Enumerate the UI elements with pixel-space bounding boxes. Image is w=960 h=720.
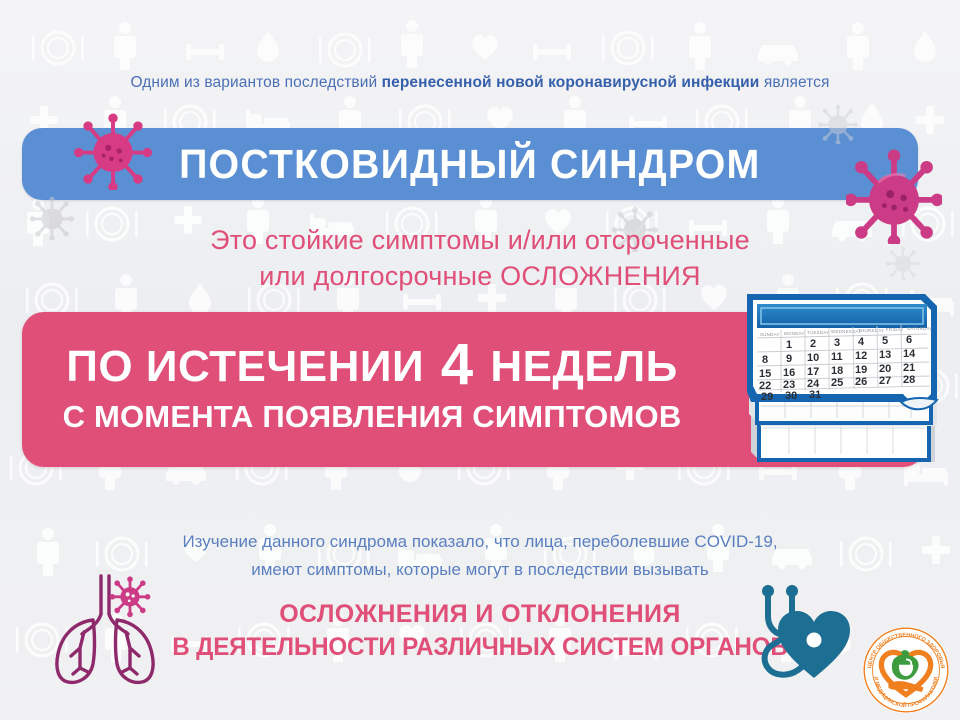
lower-paragraph-line-1: Изучение данного синдрома показало, что … bbox=[182, 532, 777, 551]
svg-text:20: 20 bbox=[879, 363, 891, 375]
heart-stethoscope-icon bbox=[752, 582, 856, 686]
svg-text:5: 5 bbox=[882, 335, 888, 347]
svg-text:25: 25 bbox=[831, 377, 843, 389]
pink-banner-weeks-number: 4 bbox=[437, 332, 478, 397]
calendar-illustration: 26 27 28 29 30 bbox=[735, 282, 960, 497]
svg-text:8: 8 bbox=[762, 354, 768, 366]
svg-text:12: 12 bbox=[855, 350, 867, 362]
svg-text:10: 10 bbox=[807, 352, 819, 364]
calendar-day: 1 bbox=[786, 339, 792, 351]
svg-text:11: 11 bbox=[831, 351, 843, 363]
svg-text:14: 14 bbox=[903, 348, 916, 360]
pink-banner-line-2: С МОМЕНТА ПОЯВЛЕНИЯ СИМПТОМОВ bbox=[22, 399, 722, 435]
svg-text:18: 18 bbox=[831, 365, 843, 377]
virus-icon-gray-c bbox=[818, 104, 858, 144]
pink-banner-line-1-before: ПО ИСТЕЧЕНИИ bbox=[66, 342, 437, 391]
postcovid-syndrome-poster: Одним из вариантов последствий перенесен… bbox=[0, 0, 960, 720]
intro-prefix: Одним из вариантов последствий bbox=[130, 74, 381, 91]
svg-text:TUESDAY: TUESDAY bbox=[807, 330, 830, 335]
organization-logo: ЦЕНТР ОБЩЕСТВЕННОГО ЗДОРОВЬЯ И МЕДИЦИНСК… bbox=[862, 626, 950, 714]
calendar-weekday: SUNDAY bbox=[760, 332, 780, 337]
svg-text:6: 6 bbox=[906, 334, 912, 346]
pink-banner-line-1: ПО ИСТЕЧЕНИИ 4 НЕДЕЛЬ bbox=[22, 340, 722, 392]
svg-text:21: 21 bbox=[903, 362, 915, 374]
svg-text:3: 3 bbox=[834, 337, 840, 349]
svg-text:29: 29 bbox=[761, 391, 773, 403]
svg-text:13: 13 bbox=[879, 349, 891, 361]
intro-bold: перенесенной новой коронавирусной инфекц… bbox=[382, 74, 760, 91]
svg-text:2: 2 bbox=[810, 338, 816, 350]
svg-text:4: 4 bbox=[858, 336, 865, 348]
pink-banner-line-1-after: НЕДЕЛЬ bbox=[478, 342, 678, 391]
svg-text:MONDAY: MONDAY bbox=[784, 331, 805, 336]
svg-text:9: 9 bbox=[786, 353, 792, 365]
svg-text:31: 31 bbox=[809, 389, 821, 401]
lungs-virus-icon bbox=[46, 568, 171, 688]
virus-icon-left bbox=[74, 112, 152, 190]
svg-text:28: 28 bbox=[903, 374, 915, 386]
svg-text:30: 30 bbox=[785, 390, 797, 402]
pink-subtitle-line-1: Это стойкие симптомы и/или отсроченные bbox=[210, 225, 750, 255]
svg-text:SATURDAY: SATURDAY bbox=[907, 326, 933, 331]
svg-text:27: 27 bbox=[879, 375, 891, 387]
blue-banner: ПОСТКОВИДНЫЙ СИНДРОМ bbox=[22, 128, 918, 200]
svg-text:16: 16 bbox=[783, 367, 795, 379]
intro-suffix: является bbox=[759, 74, 829, 91]
blue-banner-title: ПОСТКОВИДНЫЙ СИНДРОМ bbox=[179, 144, 760, 185]
svg-text:THURSDAY: THURSDAY bbox=[858, 328, 884, 333]
svg-text:26: 26 bbox=[855, 376, 867, 388]
svg-text:17: 17 bbox=[807, 366, 819, 378]
svg-text:19: 19 bbox=[855, 364, 867, 376]
intro-sentence: Одним из вариантов последствий перенесен… bbox=[0, 74, 960, 92]
svg-text:15: 15 bbox=[759, 368, 771, 380]
